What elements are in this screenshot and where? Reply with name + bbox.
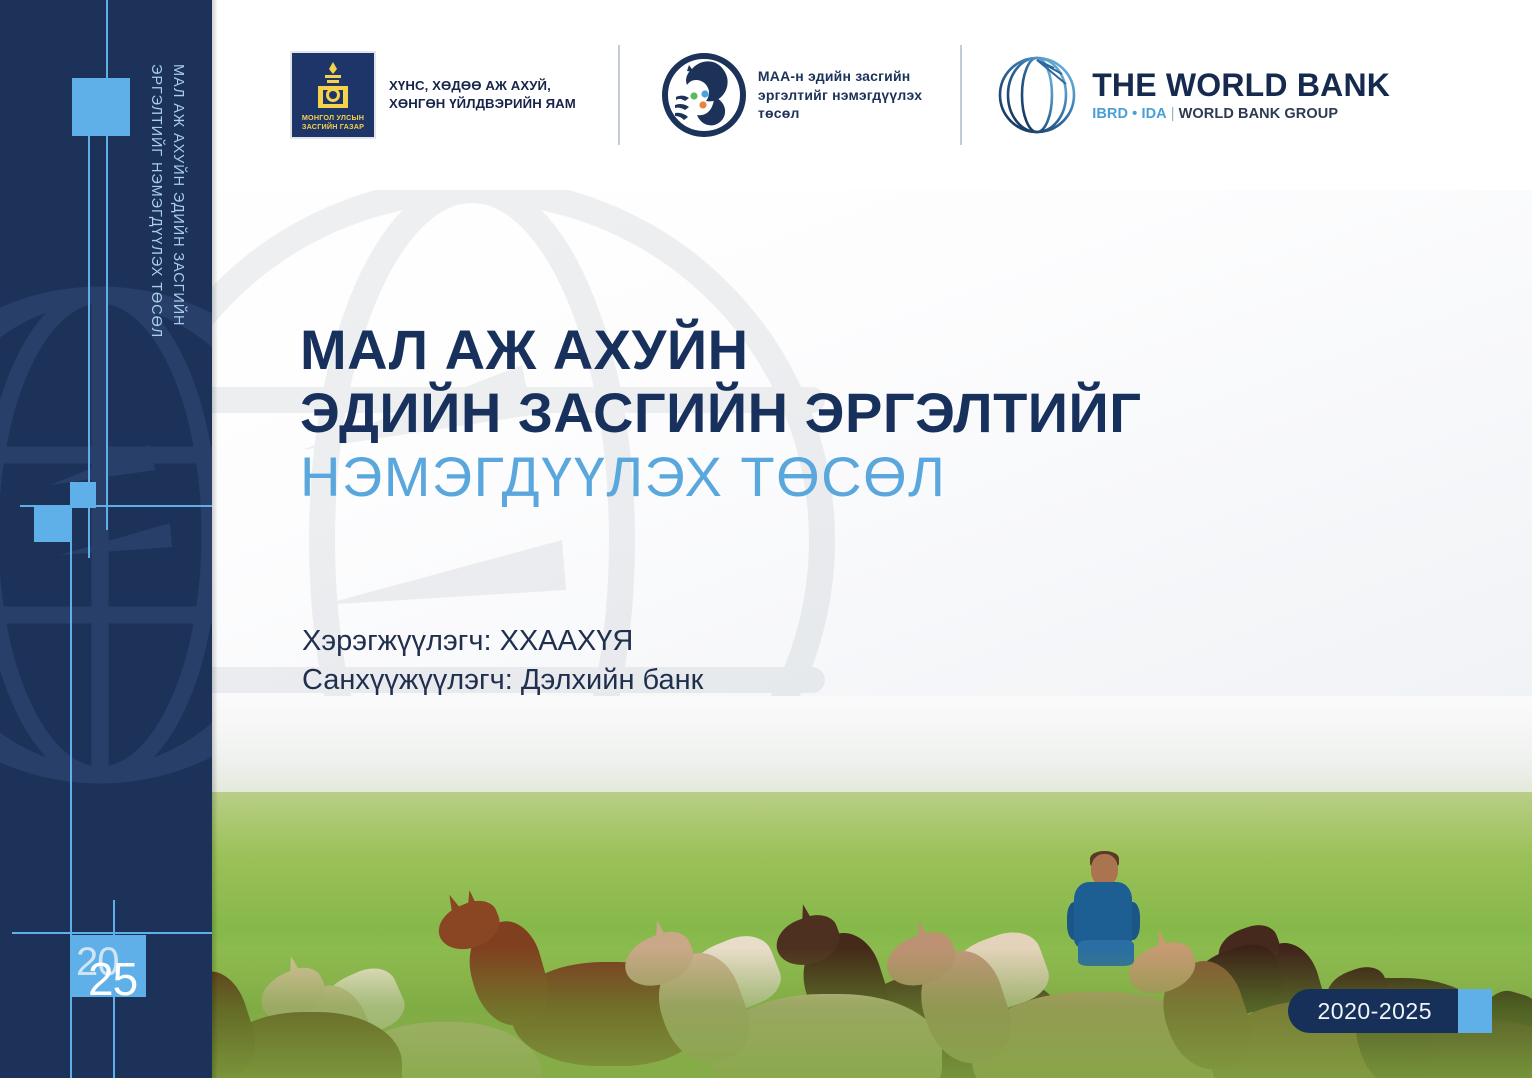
sidebar-accent-square-2 <box>70 482 96 508</box>
world-bank-sub-divider: | <box>1171 106 1175 122</box>
date-badge: 2020-2025 <box>1288 989 1493 1033</box>
project-name: МАА-н эдийн засгийн эргэлтийг нэмэгдүүлэ… <box>758 67 922 124</box>
title-line-2: ЭДИЙН ЗАСГИЙН ЭРГЭЛТИЙГ <box>300 381 1400 444</box>
world-bank-subtitle: IBRD • IDA|WORLD BANK GROUP <box>1092 106 1390 122</box>
emblem-caption-line2: ЗАСГИЙН ГАЗАР <box>302 122 364 131</box>
subtitle-financier: Санхүүжүүлэгч: Дэлхийн банк <box>302 661 703 700</box>
logo-ministry: МОНГОЛ УЛСЫН ЗАСГИЙН ГАЗАР ХҮНС, ХӨДӨӨ А… <box>290 40 576 150</box>
main-edge-shadow <box>212 0 218 1078</box>
subtitle-block: Хэрэгжүүлэгч: ХХААХҮЯ Санхүүжүүлэгч: Дэл… <box>302 622 703 700</box>
project-livestock-mark-icon <box>662 53 746 137</box>
soyombo-icon <box>312 61 354 111</box>
world-bank-ibrd-ida: IBRD • IDA <box>1092 106 1167 122</box>
sidebar-panel: МАЛ АЖ АХУЙН ЭДИЙН ЗАСГИЙН ЭРГЭЛТИЙГ НЭМ… <box>0 0 212 1078</box>
logo-project: МАА-н эдийн засгийн эргэлтийг нэмэгдүүлэ… <box>662 40 922 150</box>
project-name-line3: төсөл <box>758 105 800 121</box>
sidebar-rule-vertical-d <box>70 600 72 1078</box>
title-line-1: МАЛ АЖ АХУЙН <box>300 318 1400 381</box>
horse-herd-photo: 2020-2025 <box>212 696 1532 1078</box>
logo-divider-2 <box>960 45 962 145</box>
world-bank-globe-icon <box>996 54 1078 136</box>
sidebar-vertical-text: МАЛ АЖ АХУЙН ЭДИЙН ЗАСГИЙН ЭРГЭЛТИЙГ НЭМ… <box>118 60 212 660</box>
logo-world-bank: THE WORLD BANK IBRD • IDA|WORLD BANK GRO… <box>996 40 1390 150</box>
title-line-3: НЭМЭГДҮҮЛЭХ ТӨСӨЛ <box>300 445 1400 508</box>
photo-sky <box>212 696 1532 806</box>
sidebar-rule-vertical-c <box>70 490 72 610</box>
ministry-name: ХҮНС, ХӨДӨӨ АЖ АХУЙ, ХӨНГӨН ҮЙЛДВЭРИЙН Я… <box>389 77 576 113</box>
mongolia-state-emblem-icon: МОНГОЛ УЛСЫН ЗАСГИЙН ГАЗАР <box>290 51 376 139</box>
year-stamp-bottom: 25 <box>88 952 137 1006</box>
ministry-name-line2: ХӨНГӨН ҮЙЛДВЭРИЙН ЯАМ <box>389 96 576 111</box>
date-badge-tab <box>1458 989 1492 1033</box>
presentation-slide: МАЛ АЖ АХУЙН ЭДИЙН ЗАСГИЙН ЭРГЭЛТИЙГ НЭМ… <box>0 0 1532 1078</box>
page-title: МАЛ АЖ АХУЙН ЭДИЙН ЗАСГИЙН ЭРГЭЛТИЙГ НЭМ… <box>300 318 1400 508</box>
main-content: МОНГОЛ УЛСЫН ЗАСГИЙН ГАЗАР ХҮНС, ХӨДӨӨ А… <box>212 0 1532 1078</box>
logo-bar: МОНГОЛ УЛСЫН ЗАСГИЙН ГАЗАР ХҮНС, ХӨДӨӨ А… <box>212 0 1532 190</box>
sidebar-vertical-text-line2: ЭРГЭЛТИЙГ НЭМЭГДҮҮЛЭХ ТӨСӨЛ <box>148 64 164 338</box>
project-name-line2: эргэлтийг нэмэгдүүлэх <box>758 87 922 103</box>
subtitle-implementer: Хэрэгжүүлэгч: ХХААХҮЯ <box>302 622 703 661</box>
emblem-caption-line1: МОНГОЛ УЛСЫН <box>302 113 364 122</box>
logo-divider-1 <box>618 45 620 145</box>
project-name-line1: МАА-н эдийн засгийн <box>758 68 911 84</box>
date-badge-body: 2020-2025 <box>1288 989 1459 1033</box>
emblem-caption: МОНГОЛ УЛСЫН ЗАСГИЙН ГАЗАР <box>296 113 370 132</box>
rider-torso <box>1074 882 1132 948</box>
date-badge-label: 2020-2025 <box>1318 998 1433 1025</box>
sidebar-accent-square-3 <box>34 506 70 542</box>
ministry-name-line1: ХҮНС, ХӨДӨӨ АЖ АХУЙ, <box>389 78 551 93</box>
world-bank-group-label: WORLD BANK GROUP <box>1179 106 1338 122</box>
world-bank-title: THE WORLD BANK <box>1092 69 1390 101</box>
world-bank-text: THE WORLD BANK IBRD • IDA|WORLD BANK GRO… <box>1092 69 1390 122</box>
sidebar-vertical-text-line1: МАЛ АЖ АХУЙН ЭДИЙН ЗАСГИЙН <box>170 64 186 326</box>
sidebar-rule-horizontal-b <box>12 932 212 934</box>
